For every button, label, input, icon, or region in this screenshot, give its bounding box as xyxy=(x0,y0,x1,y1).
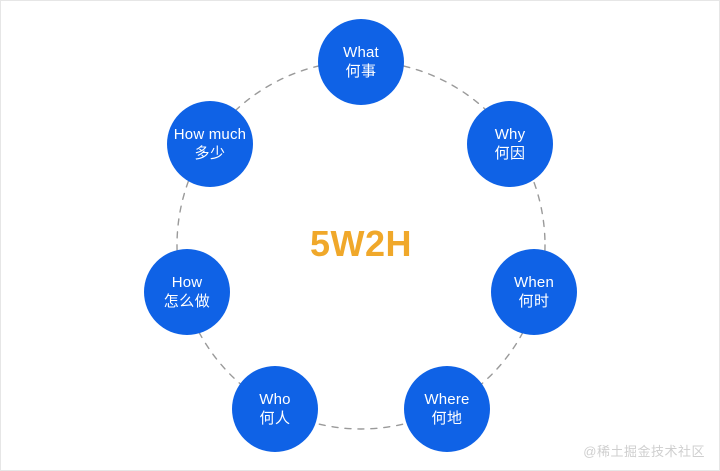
node-how-label-zh: 怎么做 xyxy=(164,293,211,311)
node-how-much[interactable]: How much 多少 xyxy=(167,101,253,187)
node-how-label-en: How xyxy=(172,274,203,292)
node-who[interactable]: Who 何人 xyxy=(232,366,318,452)
diagram-canvas: What 何事 Why 何因 When 何时 Where 何地 Who 何人 H… xyxy=(0,0,720,471)
node-why[interactable]: Why 何因 xyxy=(467,101,553,187)
node-what[interactable]: What 何事 xyxy=(318,19,404,105)
node-when-label-en: When xyxy=(514,274,554,292)
center-title: 5W2H xyxy=(1,223,720,265)
node-when-label-zh: 何时 xyxy=(518,293,549,311)
node-how-much-label-en: How much xyxy=(174,126,246,144)
node-why-label-en: Why xyxy=(495,126,526,144)
node-who-label-en: Who xyxy=(259,391,290,409)
node-where-label-en: Where xyxy=(424,391,469,409)
node-why-label-zh: 何因 xyxy=(494,145,525,163)
watermark: @稀土掘金技术社区 xyxy=(583,441,705,460)
node-how-much-label-zh: 多少 xyxy=(194,145,225,163)
node-what-label-zh: 何事 xyxy=(345,63,376,81)
node-where[interactable]: Where 何地 xyxy=(404,366,490,452)
node-where-label-zh: 何地 xyxy=(431,410,462,428)
node-who-label-zh: 何人 xyxy=(259,410,290,428)
node-what-label-en: What xyxy=(343,44,379,62)
